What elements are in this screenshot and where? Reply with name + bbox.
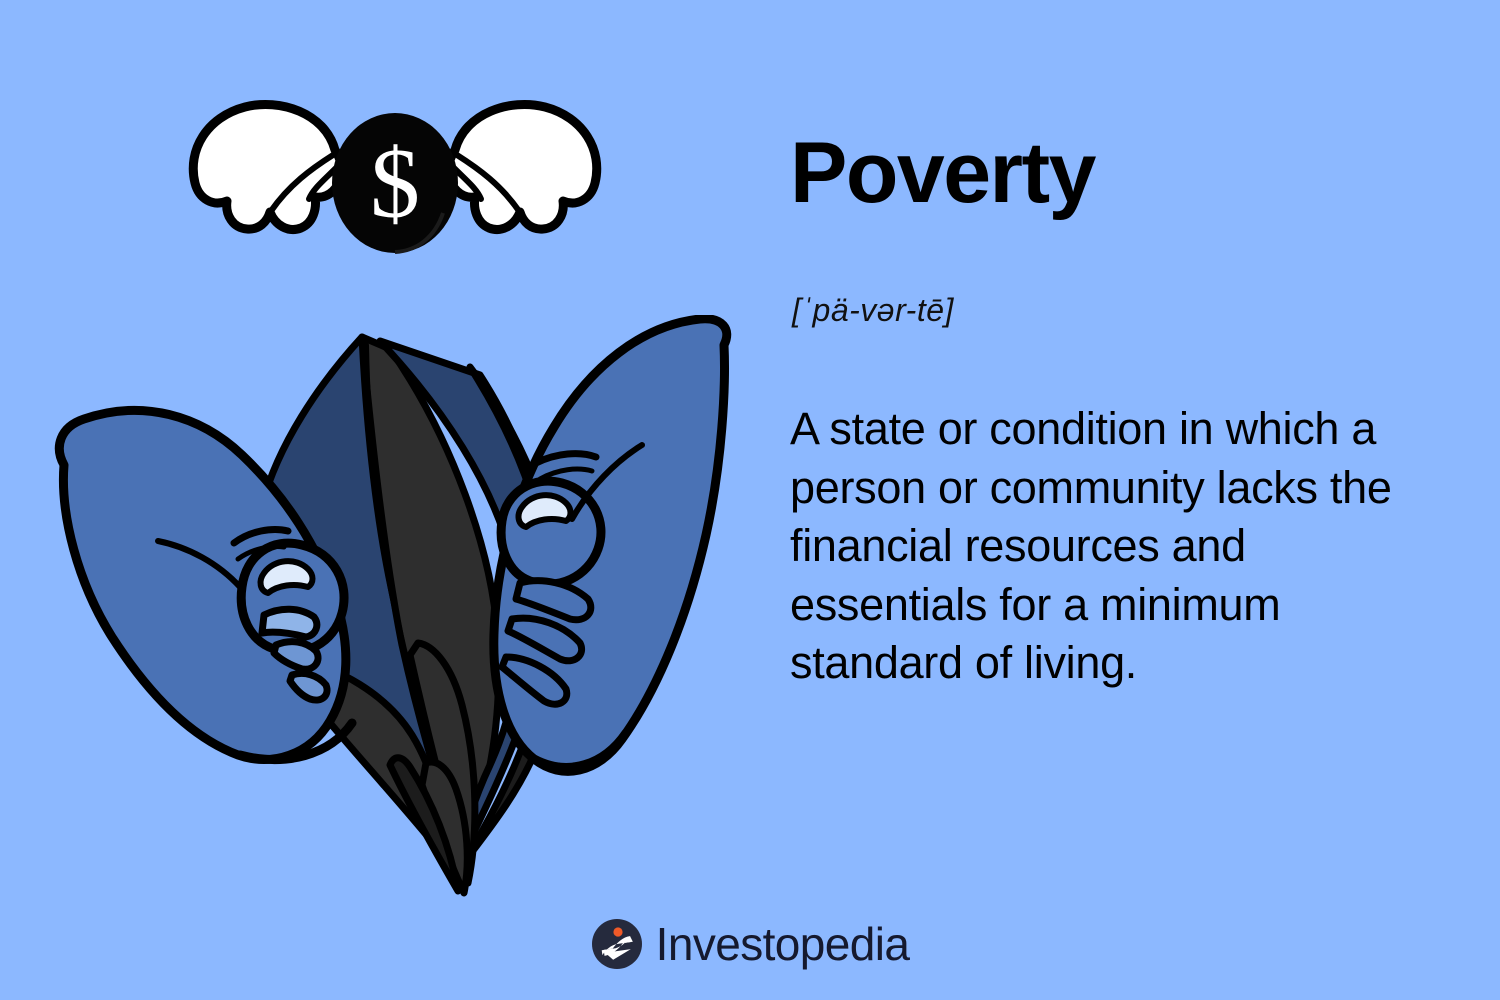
brand-footer: Investopedia: [0, 918, 1500, 970]
brand-wordmark: Investopedia: [656, 921, 910, 967]
definition-card: $: [0, 0, 1500, 1000]
text-panel: Poverty [ˈpä-vər-tē] A state or conditio…: [790, 0, 1450, 1000]
winged-money-icon: $: [185, 95, 605, 270]
dollar-sign-glyph: $: [370, 128, 420, 239]
wallet-illustration: [50, 315, 740, 900]
illustration-panel: $: [0, 0, 750, 1000]
hand-right: [494, 319, 727, 772]
page-title: Poverty: [790, 130, 1095, 216]
definition-text: A state or condition in which a person o…: [790, 400, 1430, 693]
wing-left-icon: [193, 104, 341, 229]
investopedia-logo-icon: [591, 918, 643, 970]
pronunciation-text: [ˈpä-vər-tē]: [792, 292, 954, 329]
wing-right-icon: [449, 104, 597, 229]
dollar-coin-icon: $: [332, 113, 458, 253]
